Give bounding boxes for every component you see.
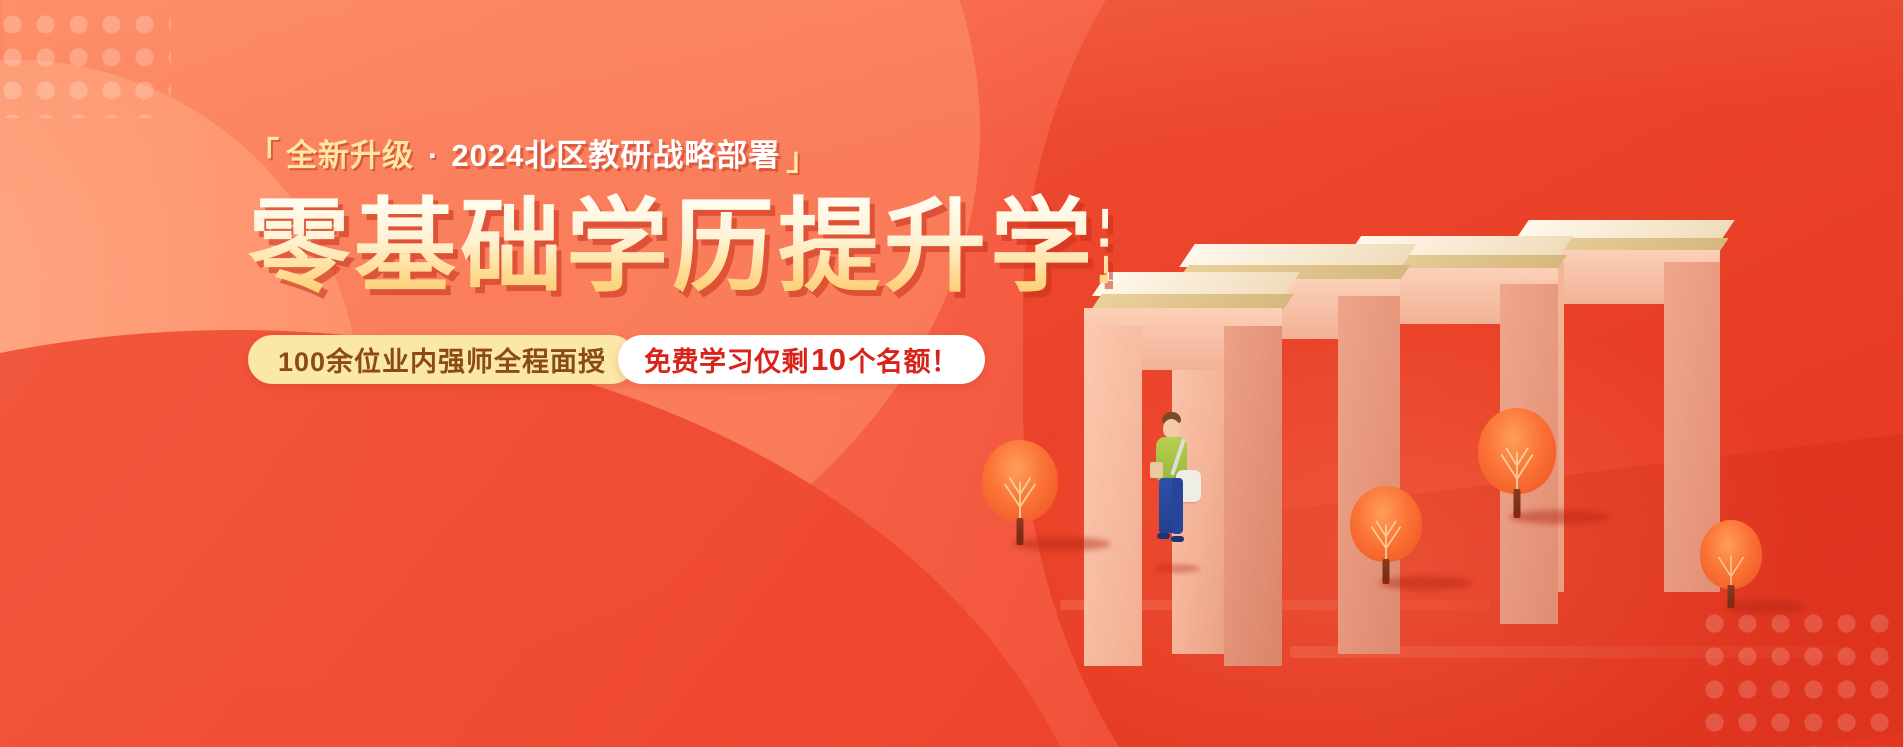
subtitle-gold-text: 全新升级 bbox=[284, 140, 416, 171]
tree-1 bbox=[982, 440, 1058, 545]
tree-4 bbox=[1700, 520, 1762, 608]
figure-leg-back bbox=[1172, 478, 1182, 534]
page-title: 零基础学历提升学霸班 bbox=[248, 193, 1108, 301]
background-shape-dark-sweep bbox=[0, 330, 1110, 747]
figure-shadow bbox=[1154, 564, 1200, 573]
seats-remaining-badge: 免费学习仅剩10个名额！ bbox=[618, 335, 984, 384]
figure-head bbox=[1163, 419, 1180, 438]
promo-banner: 「 全新升级 · 2024北区教研战略部署 」 零基础学历提升学霸班 100余位… bbox=[0, 0, 1903, 747]
banner-text-block: 「 全新升级 · 2024北区教研战略部署 」 零基础学历提升学霸班 100余位… bbox=[248, 140, 1108, 384]
figure-shoe-back bbox=[1171, 536, 1184, 542]
seats-count: 10 bbox=[809, 342, 848, 378]
tree-3 bbox=[1478, 408, 1556, 518]
badge-row: 100余位业内强师全程面授 免费学习仅剩10个名额！ bbox=[248, 335, 1108, 384]
open-bracket-icon: 「 bbox=[248, 138, 280, 169]
tree-1-shadow bbox=[1012, 537, 1111, 551]
dot-grid-top-left-icon bbox=[0, 8, 171, 118]
subtitle-white-text: 2024北区教研战略部署 bbox=[451, 140, 780, 171]
figure-book bbox=[1150, 462, 1163, 478]
book-right-leg-1 bbox=[1224, 326, 1282, 666]
student-figure bbox=[1150, 412, 1210, 572]
feature-badge: 100余位业内强师全程面授 bbox=[248, 335, 636, 384]
close-bracket-icon: 」 bbox=[786, 144, 818, 175]
seats-prefix-text: 免费学习仅剩 bbox=[644, 340, 809, 379]
tree-2 bbox=[1350, 486, 1422, 584]
banner-subtitle: 「 全新升级 · 2024北区教研战略部署 」 bbox=[248, 140, 1108, 171]
subtitle-separator-icon: · bbox=[416, 140, 451, 171]
tree-3-shadow bbox=[1509, 510, 1610, 524]
seats-suffix-text: 个名额！ bbox=[849, 340, 959, 379]
tree-4-shadow bbox=[1725, 600, 1806, 614]
book-right-leg-2 bbox=[1338, 296, 1400, 654]
tree-2-shadow bbox=[1379, 576, 1473, 590]
figure-shoe-front bbox=[1157, 533, 1170, 539]
